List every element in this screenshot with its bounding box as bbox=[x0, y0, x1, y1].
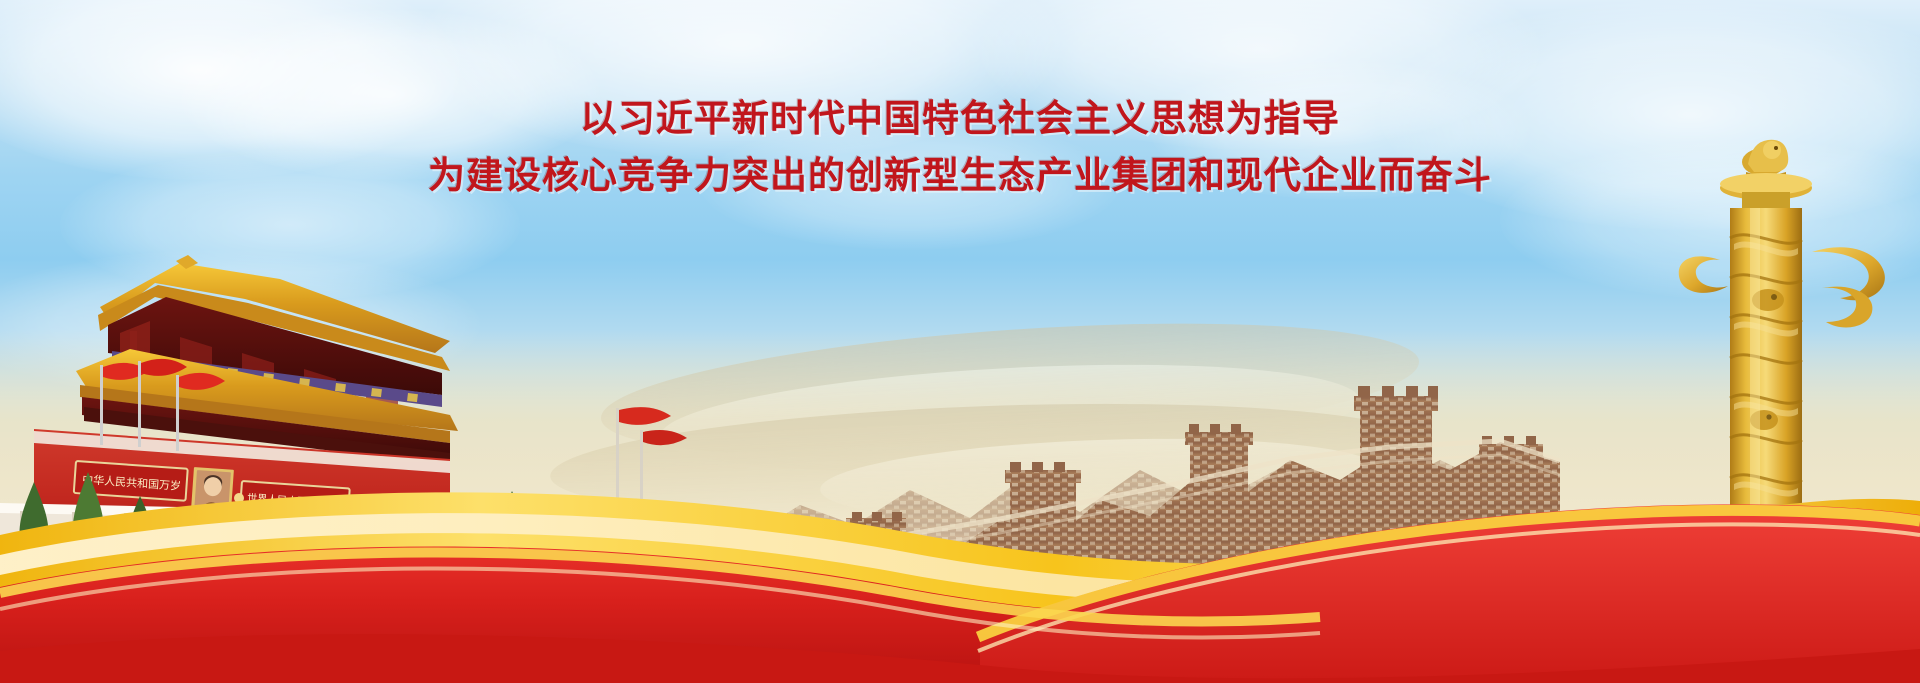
ribbon-wave-decoration bbox=[0, 423, 1920, 683]
headline-line-2: 为建设核心竞争力突出的创新型生态产业集团和现代企业而奋斗 bbox=[0, 153, 1920, 198]
headline-line-1: 以习近平新时代中国特色社会主义思想为指导 bbox=[0, 96, 1920, 141]
headline-block: 以习近平新时代中国特色社会主义思想为指导 为建设核心竞争力突出的创新型生态产业集… bbox=[0, 96, 1920, 198]
promo-banner: 中华人民共和国万岁 世界人民大团结万岁 bbox=[0, 0, 1920, 683]
